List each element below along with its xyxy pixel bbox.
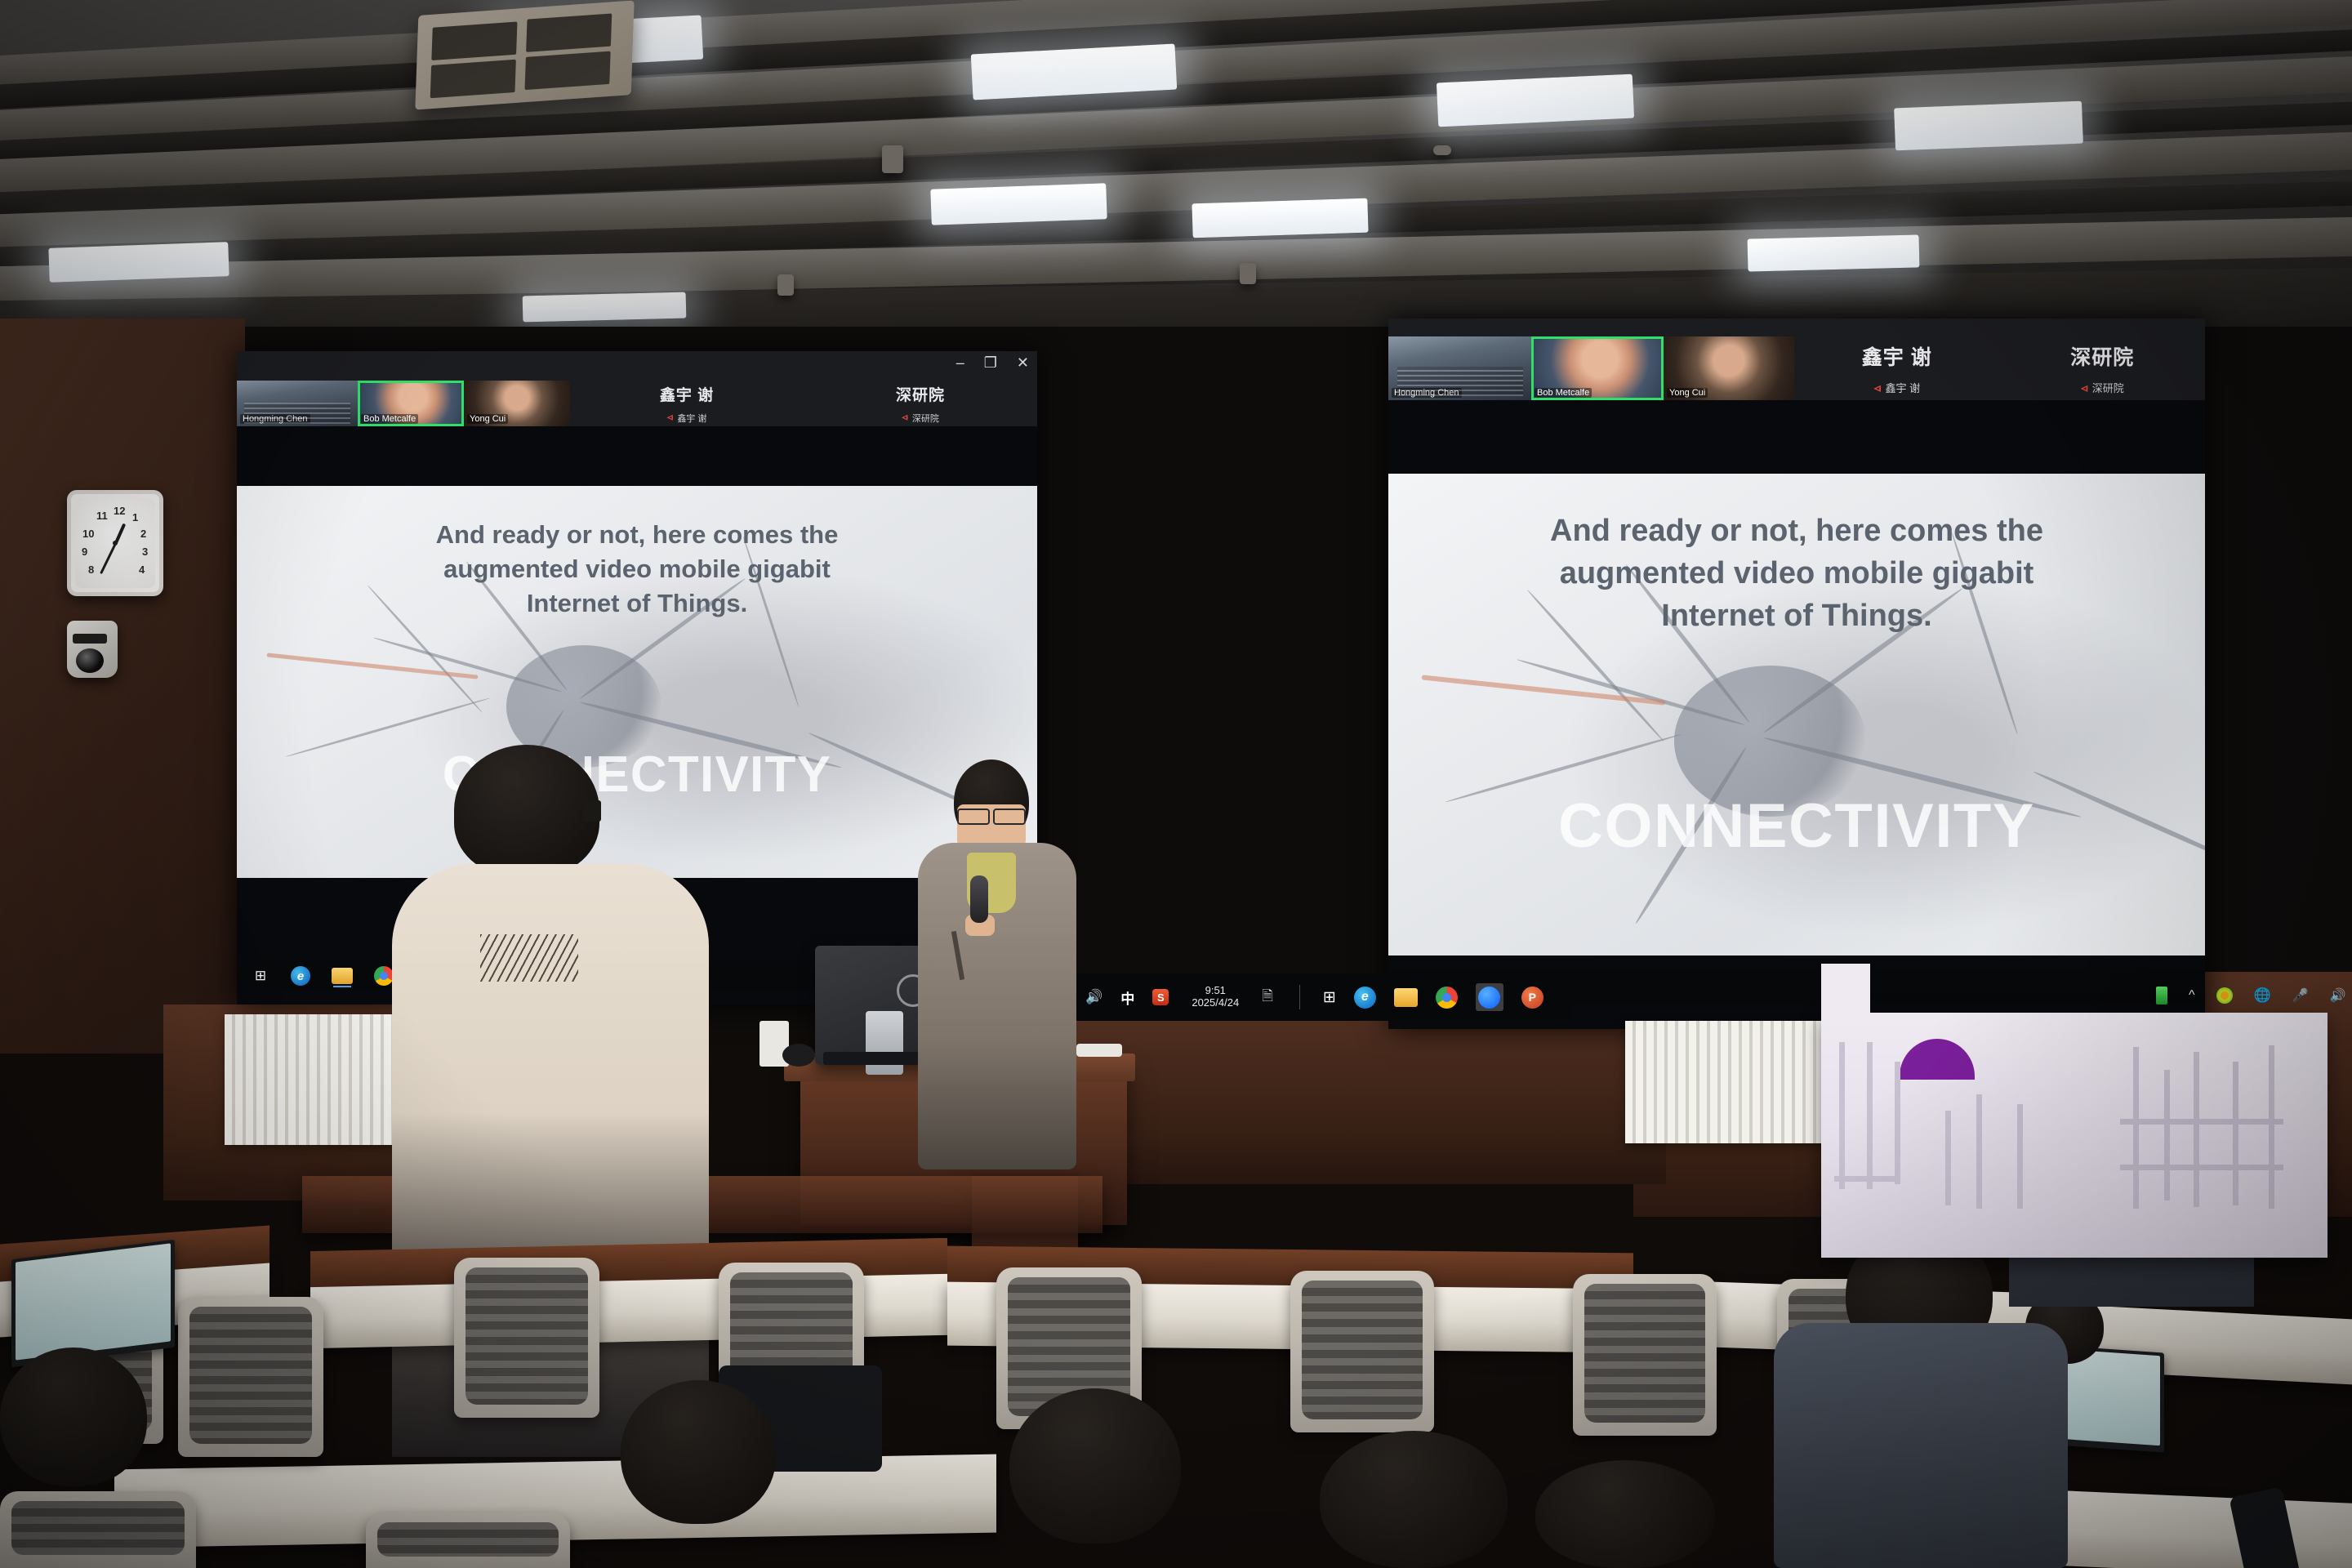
ceiling-light — [48, 242, 229, 283]
audience-head — [1009, 1388, 1181, 1543]
participant-name: 鑫宇 谢 — [1862, 341, 1932, 371]
standee-post — [1821, 964, 1870, 1014]
participant-tile-avatar[interactable]: 鑫宇 谢 ⏿ 鑫宇 谢 — [570, 381, 804, 426]
microphone-icon[interactable]: 🎤 — [2292, 987, 2309, 1004]
slide-line-2: augmented video mobile gigabit — [237, 555, 1037, 585]
clock-number: 3 — [142, 546, 148, 558]
left-wall — [0, 318, 245, 1053]
chair[interactable] — [1573, 1274, 1717, 1436]
participant-tile-active[interactable]: Bob Metcalfe — [358, 381, 464, 426]
standee-cutout — [1867, 1042, 1873, 1189]
participant-tile[interactable]: Yong Cui — [1664, 336, 1794, 400]
standee-cutout — [2133, 1047, 2139, 1209]
ceiling-speaker — [882, 145, 903, 173]
standing-person-glasses — [583, 800, 601, 822]
standee-cutout — [2269, 1045, 2274, 1209]
presenter-glasses — [993, 808, 1026, 825]
slide-line-3: Internet of Things. — [1388, 598, 2205, 635]
slide-line-1: And ready or not, here comes the — [237, 520, 1037, 550]
participant-tile[interactable]: Hongming Chen — [237, 381, 358, 426]
clock-number: 1 — [132, 511, 138, 523]
ceiling-light — [1192, 198, 1368, 238]
participant-name: Hongming Chen — [240, 414, 310, 424]
lecture-hall-scene: 12 1 2 3 4 8 9 10 11 – ❐ ✕ Hong — [0, 0, 2352, 1568]
usb-icon[interactable] — [2156, 987, 2167, 1004]
standee-cutout — [1945, 1111, 1951, 1205]
wall-clock: 12 1 2 3 4 8 9 10 11 — [67, 490, 163, 596]
chair[interactable] — [454, 1258, 599, 1418]
security-camera-icon — [67, 621, 118, 678]
participant-name: 深研院 — [2070, 341, 2134, 371]
standee-cutout — [1895, 1062, 1900, 1184]
participant-tile-active[interactable]: Bob Metcalfe — [1531, 336, 1664, 400]
participant-tile[interactable]: Hongming Chen — [1388, 336, 1531, 400]
presenter-glasses — [957, 808, 990, 825]
audience-body — [1774, 1323, 2068, 1568]
participant-name: Bob Metcalfe — [1535, 388, 1592, 398]
window-controls-left: – ❐ ✕ — [956, 355, 1029, 370]
taskbar-start-button[interactable]: ⊞ — [252, 967, 269, 985]
ceiling-speaker — [1240, 263, 1256, 284]
taskbar-file-explorer-icon[interactable] — [332, 968, 353, 984]
presentation-slide-left: And ready or not, here comes the augment… — [237, 486, 1037, 878]
chair[interactable] — [1290, 1271, 1434, 1432]
standee-cutout — [1976, 1094, 1982, 1209]
standee-cutout — [1834, 1176, 1900, 1182]
speaker-icon[interactable]: 🔊 — [1085, 989, 1102, 1005]
presentation-slide-right: And ready or not, here comes the augment… — [1388, 474, 2205, 955]
handheld-microphone-icon — [970, 875, 988, 923]
clock-number: 4 — [139, 563, 145, 576]
slide-line-3: Internet of Things. — [237, 589, 1037, 619]
taskbar-divider — [1299, 985, 1300, 1009]
standee-cutout — [1839, 1042, 1845, 1189]
audience-head — [1535, 1460, 1715, 1568]
taskbar-edge-icon[interactable]: e — [1354, 987, 1376, 1009]
clock-date: 2025/4/24 — [1192, 997, 1239, 1009]
participant-tile[interactable]: Yong Cui — [464, 381, 570, 426]
participant-name-small: 鑫宇 谢 — [1885, 380, 1920, 395]
windows-taskbar-center: 🎤 🔊 中 S 9:51 2025/4/24 🗎 ⊞ e P — [1039, 973, 1573, 1021]
chair[interactable] — [0, 1491, 196, 1568]
clock-number: 9 — [82, 546, 87, 558]
participant-name-small: 深研院 — [2092, 380, 2124, 395]
slide-watermark: CONNECTIVITY — [1388, 791, 2205, 862]
standee-cutout — [2017, 1104, 2023, 1209]
standee-cutout — [2164, 1070, 2170, 1200]
participant-tile-avatar[interactable]: 深研院 ⏿ 深研院 — [2000, 336, 2206, 400]
close-icon[interactable]: ✕ — [1017, 355, 1029, 370]
clock-minute-hand — [100, 544, 116, 574]
zoom-filmstrip-left: Hongming Chen Bob Metcalfe Yong Cui 鑫宇 谢… — [237, 381, 1037, 426]
standee-cutout — [2120, 1165, 2283, 1170]
standee-arch-accent — [1900, 1039, 1975, 1080]
taskbar-clock[interactable]: 9:51 2025/4/24 — [1192, 985, 1239, 1009]
ceiling-vent — [415, 0, 634, 109]
ceiling-speaker — [777, 274, 794, 296]
muted-mic-icon: ⏿ — [667, 412, 674, 423]
taskbar-file-explorer-icon[interactable] — [1394, 988, 1418, 1007]
ceiling-light — [930, 183, 1107, 225]
participant-name-small: 鑫宇 谢 — [677, 412, 706, 425]
audience-head — [1320, 1431, 1508, 1568]
participant-name-small: 深研院 — [912, 412, 939, 425]
headphones — [782, 1044, 815, 1067]
shield-icon[interactable] — [2216, 987, 2233, 1004]
projection-screen-right: Hongming Chen Bob Metcalfe Yong Cui 鑫宇 谢… — [1388, 318, 2205, 1029]
muted-mic-icon: ⏿ — [2081, 381, 2088, 394]
participant-name: Bob Metcalfe — [361, 414, 418, 424]
ceiling-light — [1748, 234, 1920, 271]
slide-watermark: CONNECTIVITY — [237, 746, 1037, 804]
participant-name: 深研院 — [896, 383, 945, 405]
clock-time: 9:51 — [1192, 985, 1239, 997]
slide-line-1: And ready or not, here comes the — [1388, 513, 2205, 550]
globe-offline-icon[interactable]: 🌐 — [2254, 987, 2271, 1004]
muted-mic-icon: ⏿ — [902, 412, 908, 423]
participant-name: Yong Cui — [467, 414, 508, 424]
smoke-detector-icon — [1433, 145, 1451, 155]
speaker-icon[interactable]: 🔊 — [2330, 987, 2346, 1004]
event-standee-sign — [1821, 1013, 2327, 1258]
clock-number: 10 — [82, 528, 94, 540]
taskbar-edge-icon[interactable]: e — [291, 966, 310, 986]
audience-laptop[interactable] — [11, 1240, 175, 1368]
standee-cutout — [2233, 1062, 2238, 1205]
participant-name: Hongming Chen — [1392, 388, 1462, 398]
ime-icon[interactable]: 中 — [1120, 987, 1134, 1008]
jacket-calligraphy — [480, 934, 578, 982]
taskbar-chrome-icon[interactable] — [1436, 987, 1458, 1009]
monitor-stand — [866, 1011, 903, 1075]
clock-face: 12 1 2 3 4 8 9 10 11 — [75, 498, 155, 588]
ceiling-light — [1437, 74, 1634, 127]
chevron-up-icon[interactable]: ^ — [2189, 988, 2195, 1003]
chair[interactable] — [366, 1512, 570, 1568]
ceiling-light — [523, 292, 687, 323]
audience-head — [621, 1380, 776, 1524]
muted-mic-icon: ⏿ — [1873, 381, 1881, 394]
ceiling — [0, 0, 2352, 351]
audience-head — [0, 1347, 147, 1486]
zoom-filmstrip-right: Hongming Chen Bob Metcalfe Yong Cui 鑫宇 谢… — [1388, 336, 2205, 400]
sogou-icon[interactable]: S — [1152, 989, 1169, 1005]
standee-cutout — [2194, 1052, 2199, 1207]
participant-tile-avatar[interactable]: 深研院 ⏿ 深研院 — [804, 381, 1037, 426]
desk-device — [1076, 1044, 1122, 1057]
taskbar-zoom-icon[interactable] — [1476, 983, 1503, 1011]
chair[interactable] — [178, 1297, 323, 1457]
notification-icon[interactable]: 🗎 — [1262, 986, 1273, 1009]
slide-line-2: augmented video mobile gigabit — [1388, 555, 2205, 592]
minimize-icon[interactable]: – — [956, 355, 964, 370]
clock-number: 11 — [96, 510, 108, 522]
clock-number: 2 — [140, 528, 146, 540]
participant-tile-avatar[interactable]: 鑫宇 谢 ⏿ 鑫宇 谢 — [1794, 336, 2000, 400]
system-tray-right: ^ 🌐 🎤 🔊 — [2156, 987, 2346, 1004]
clock-number: 8 — [88, 563, 94, 576]
participant-name: Yong Cui — [1667, 388, 1708, 398]
restore-icon[interactable]: ❐ — [984, 355, 997, 370]
taskbar-powerpoint-icon[interactable]: P — [1521, 987, 1543, 1009]
standee-cutout — [2120, 1119, 2283, 1125]
standing-person-head — [454, 745, 599, 875]
ceiling-light — [1894, 101, 2083, 151]
taskbar-start-button[interactable]: ⊞ — [1323, 988, 1336, 1007]
participant-name: 鑫宇 谢 — [660, 383, 714, 405]
taskbar-chrome-icon[interactable] — [374, 966, 394, 986]
clock-number: 12 — [114, 505, 125, 517]
